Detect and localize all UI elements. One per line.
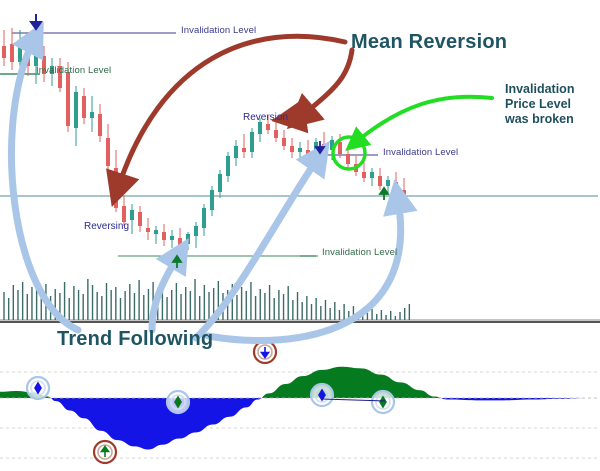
candle-body (98, 114, 102, 136)
sell-signal-cross-left[interactable] (27, 377, 49, 399)
candle-body (378, 176, 382, 186)
candle-body (50, 66, 54, 74)
candle-body (218, 174, 222, 192)
candle-body (266, 124, 270, 130)
chart-canvas (0, 0, 600, 471)
candle-body (250, 132, 254, 152)
candle-body (386, 180, 390, 186)
candle-body (154, 230, 158, 234)
candle-body (242, 148, 246, 152)
candle-body (210, 190, 214, 210)
candle-body (394, 182, 398, 192)
candle-body (298, 148, 302, 152)
candle-body (290, 146, 294, 152)
candle-body (402, 190, 406, 198)
candle-body (122, 206, 126, 222)
candle-body (2, 46, 6, 58)
candle-body (338, 142, 342, 154)
candle-body (58, 66, 62, 88)
candle-body (42, 56, 46, 74)
candle-body (146, 228, 150, 232)
buy-signal-cross-mid[interactable] (167, 391, 189, 413)
candle-body (10, 44, 14, 62)
buy-signal-cross-far[interactable] (372, 391, 394, 413)
candle-body (138, 212, 142, 226)
candle-body (82, 96, 86, 118)
buy-signal-trough[interactable] (94, 441, 116, 463)
sell-signal-peak[interactable] (254, 341, 276, 363)
candle-body (306, 150, 310, 158)
candle-body (362, 172, 366, 178)
candle-body (186, 234, 190, 244)
candle-body (202, 208, 206, 228)
reversion-arrow (291, 115, 312, 118)
sell-signal-cross-right[interactable] (311, 384, 333, 406)
candle-body (162, 232, 166, 240)
candle-body (346, 154, 350, 164)
candle-body (90, 112, 94, 118)
candle-body (234, 146, 238, 158)
candle-body (170, 236, 174, 240)
candle-body (66, 72, 70, 126)
candle-body (370, 172, 374, 178)
candle-body (130, 210, 134, 220)
candle-body (258, 122, 262, 134)
candle-body (194, 226, 198, 236)
candle-body (178, 238, 182, 246)
candle-body (74, 92, 78, 128)
candle-body (106, 138, 110, 166)
candle-body (226, 156, 230, 176)
candle-body (274, 130, 278, 138)
chart-screenshot: Invalidation Level Invalidation Level In… (0, 0, 600, 471)
candle-body (18, 40, 22, 62)
candle-body (282, 138, 286, 146)
candle-body (34, 54, 38, 66)
